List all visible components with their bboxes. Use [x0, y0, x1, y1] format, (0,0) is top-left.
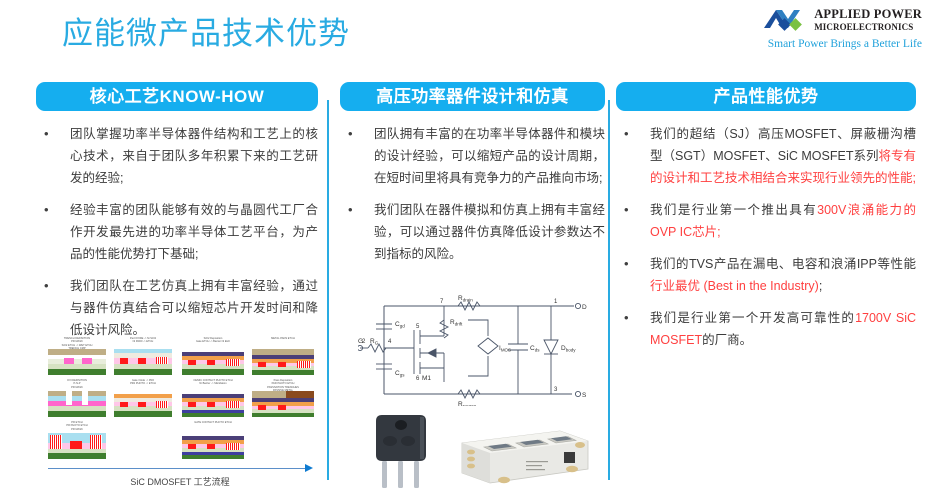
content-columns: 核心工艺KNOW-HOW 团队掌握功率半导体器件结构和工艺上的核心技术，来自于团…: [0, 82, 930, 491]
process-step: GATE CONTACT PHOTO ETCH: [182, 421, 244, 459]
cross-section-art: [182, 433, 244, 459]
applied-power-logo-icon: [762, 6, 810, 34]
column-hv-design-simulation: 高压功率器件设计和仿真 团队拥有丰富的在功率半导体器件和模块的设计经验，可以缩短…: [340, 82, 605, 491]
process-step: Gate Oxide -> PR2 PR2 PHOTO -> ETCH: [114, 379, 172, 417]
node-3: 3: [554, 387, 558, 393]
label-c-gs: Cgs: [395, 370, 405, 378]
logo-name-secondary: MICROELECTRONICS: [814, 23, 913, 32]
column-core-process-knowhow: 核心工艺KNOW-HOW 团队掌握功率半导体器件结构和工艺上的核心技术，来自于团…: [36, 82, 318, 491]
logo-tagline: Smart Power Brings a Better Life: [744, 38, 922, 50]
list-item: 经验丰富的团队能够有效的与晶圆代工厂合作开发最先进的功率半导体工艺平台，为产品的…: [36, 199, 318, 265]
text-plain: 我们是行业第一个开发高可靠性的: [650, 311, 855, 325]
label-r-source: Rsource: [458, 401, 477, 406]
column-header-3: 产品性能优势: [616, 82, 916, 111]
power-module-image: [448, 425, 594, 496]
node-4: 4: [388, 339, 392, 345]
company-logo: APPLIED POWER MICROELECTRONICS Smart Pow…: [744, 6, 922, 58]
page-title: 应能微产品技术优势: [62, 14, 350, 54]
cross-section-art: [48, 349, 106, 375]
process-step: PR ETCH PR PHOTO ETCH PR MASK: [48, 421, 106, 459]
mosfet-equivalent-circuit-diagram: Rdrain Rdrift Rsource Cgd Cgs Cds Dbody …: [358, 290, 596, 406]
node-7: 7: [440, 299, 444, 305]
text-plain: 我们的超结（SJ）高压MOSFET、屏蔽栅沟槽型（SGT）MOSFET、SiC …: [650, 127, 916, 163]
column-header-2: 高压功率器件设计和仿真: [340, 82, 605, 111]
sic-dmosfet-process-figure: TRENCH DEFINITION PR MASK SiO2 ETCH -> W…: [42, 337, 318, 487]
label-r-drift: Rdrift: [450, 319, 463, 327]
node-1: 1: [554, 299, 558, 305]
cross-section-art: [182, 349, 244, 375]
cross-section-art: [48, 391, 106, 417]
product-photos: [352, 407, 604, 491]
node-2: 2: [362, 339, 366, 345]
label-c-ds: Cds: [530, 345, 540, 353]
node-6: 6: [416, 376, 420, 382]
process-step: TRENCH DEFINITION PR MASK SiO2 ETCH -> W…: [48, 337, 106, 375]
process-step: OXI DEFINITION P-N-P PR MASK: [48, 379, 106, 417]
list-item: 我们的超结（SJ）高压MOSFET、屏蔽栅沟槽型（SGT）MOSFET、SiC …: [616, 123, 916, 189]
slide-root: 应能微产品技术优势 APPLIED POWER MICROELECTRONICS…: [0, 0, 930, 491]
list-item: 我们团队在器件模拟和仿真上拥有丰富经验，可以通过器件仿真降低设计参数达不到指标的…: [340, 199, 605, 265]
list-item: 我们团队在工艺仿真上拥有丰富经验，通过与器件仿真结合可以缩短芯片开发时间和降低设…: [36, 275, 318, 341]
text-plain: 的厂商。: [702, 333, 752, 347]
cross-section-art: [48, 433, 106, 459]
process-flow-arrow: [42, 463, 318, 473]
process-step-grid: TRENCH DEFINITION PR MASK SiO2 ETCH -> W…: [42, 337, 318, 459]
text-highlight: 行业最优 (Best in the Industry): [650, 279, 819, 293]
bullet-list-3: 我们的超结（SJ）高压MOSFET、屏蔽栅沟槽型（SGT）MOSFET、SiC …: [616, 123, 916, 351]
column-product-performance: 产品性能优势 我们的超结（SJ）高压MOSFET、屏蔽栅沟槽型（SGT）MOSF…: [616, 82, 916, 491]
logo-name-primary: APPLIED POWER: [814, 8, 922, 21]
label-d-body: Dbody: [561, 345, 576, 353]
process-step: OHMIC CONTACT PHOTO ETCH Ni Barrier -> S…: [182, 379, 244, 417]
to-247-package-image: [370, 411, 442, 496]
bullet-list-2: 团队拥有丰富的在功率半导体器件和模块的设计经验，可以缩短产品的设计周期，在短时间…: [340, 123, 605, 265]
column-divider-2: [608, 100, 610, 480]
cross-section-art: [114, 391, 172, 417]
process-step: Pad OXIDE -> Ni SiO2 Ni PAD0 -> ETCH: [114, 337, 172, 375]
list-item: 团队拥有丰富的在功率半导体器件和模块的设计经验，可以缩短产品的设计周期，在短时间…: [340, 123, 605, 189]
cross-section-art: [114, 349, 172, 375]
list-item: 我们的TVS产品在漏电、电容和浪涌IPP等性能行业最优 (Best in the…: [616, 253, 916, 297]
figure-caption: SiC DMOSFET 工艺流程: [42, 475, 318, 488]
label-r-drain: Rdrain: [458, 295, 473, 303]
bullet-list-1: 团队掌握功率半导体器件结构和工艺上的核心技术，来自于团队多年积累下来的工艺研发的…: [36, 123, 318, 341]
list-item: 我们是行业第一个开发高可靠性的1700V SiC MOSFET的厂商。: [616, 307, 916, 351]
column-divider-1: [327, 100, 329, 480]
cross-section-art: [252, 391, 314, 417]
text-plain: 我们的TVS产品在漏电、电容和浪涌IPP等性能: [650, 257, 916, 271]
process-step: Pass Deposition PAD PHOTO ETCH PASSIVATI…: [252, 379, 314, 417]
process-step: METAL PADS ETCH: [252, 337, 314, 375]
list-item: 团队掌握功率半导体器件结构和工艺上的核心技术，来自于团队多年积累下来的工艺研发的…: [36, 123, 318, 189]
node-5: 5: [416, 324, 420, 330]
label-m1: M1: [422, 375, 431, 382]
label-terminal-s: S: [582, 392, 587, 399]
list-item: 我们是行业第一个推出具有300V浪涌能力的OVP IC芯片;: [616, 199, 916, 243]
text-plain: 我们是行业第一个推出具有: [650, 203, 817, 217]
label-i-mos: IMOS: [499, 345, 511, 353]
label-r-g: RG: [370, 338, 379, 346]
label-c-gd: Cgd: [395, 321, 405, 329]
text-plain: ;: [819, 279, 822, 293]
column-header-1: 核心工艺KNOW-HOW: [36, 82, 318, 111]
process-step: SiO2 Deposition Gate ETCH -> Barrier Ni …: [182, 337, 244, 375]
label-terminal-d: D: [582, 304, 587, 311]
cross-section-art: [252, 349, 314, 375]
cross-section-art: [182, 391, 244, 417]
